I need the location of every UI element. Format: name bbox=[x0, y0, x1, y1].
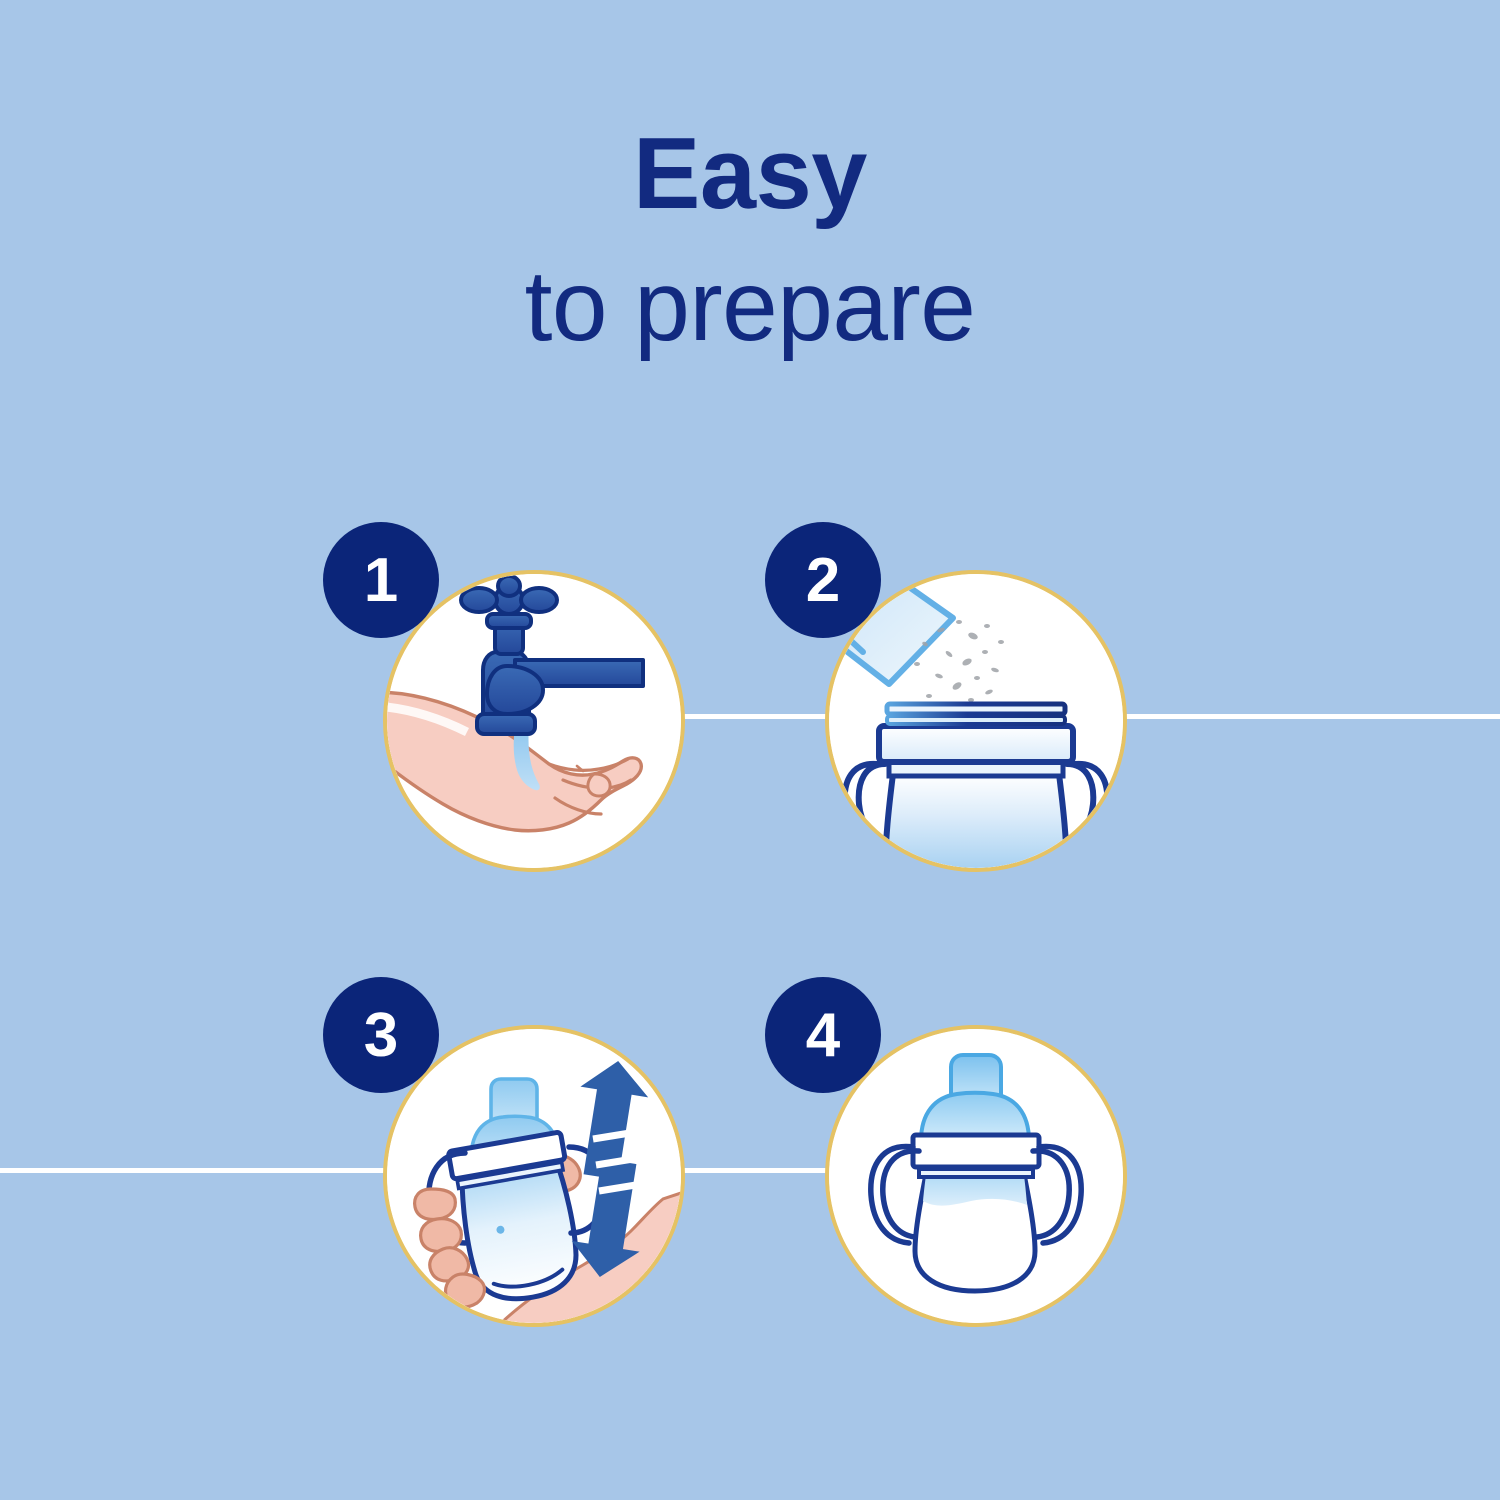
step-2-number-badge: 2 bbox=[765, 522, 881, 638]
filled-sippy-cup-icon bbox=[829, 1029, 1123, 1323]
step-3[interactable]: 3 bbox=[383, 1025, 685, 1327]
step-2[interactable]: 2 bbox=[825, 570, 1127, 872]
step-1[interactable]: 1 bbox=[383, 570, 685, 872]
page-title: Easy to prepare bbox=[0, 118, 1500, 365]
hand-shaking-cup-with-up-down-arrow-icon bbox=[387, 1029, 681, 1323]
infographic-canvas: Easy to prepare bbox=[0, 0, 1500, 1500]
step-3-number-badge: 3 bbox=[323, 977, 439, 1093]
title-line-2: to prepare bbox=[0, 247, 1500, 365]
step-4[interactable]: 4 bbox=[825, 1025, 1127, 1327]
step-1-number-badge: 1 bbox=[323, 522, 439, 638]
step-4-number-badge: 4 bbox=[765, 977, 881, 1093]
step-1-illustration-disc bbox=[383, 570, 685, 872]
step-4-illustration-disc bbox=[825, 1025, 1127, 1327]
step-2-illustration-disc bbox=[825, 570, 1127, 872]
title-line-1: Easy bbox=[0, 118, 1500, 231]
scoop-pouring-powder-into-cup-icon bbox=[829, 574, 1123, 868]
hand-washing-under-faucet-icon bbox=[387, 574, 681, 868]
step-3-illustration-disc bbox=[383, 1025, 685, 1327]
